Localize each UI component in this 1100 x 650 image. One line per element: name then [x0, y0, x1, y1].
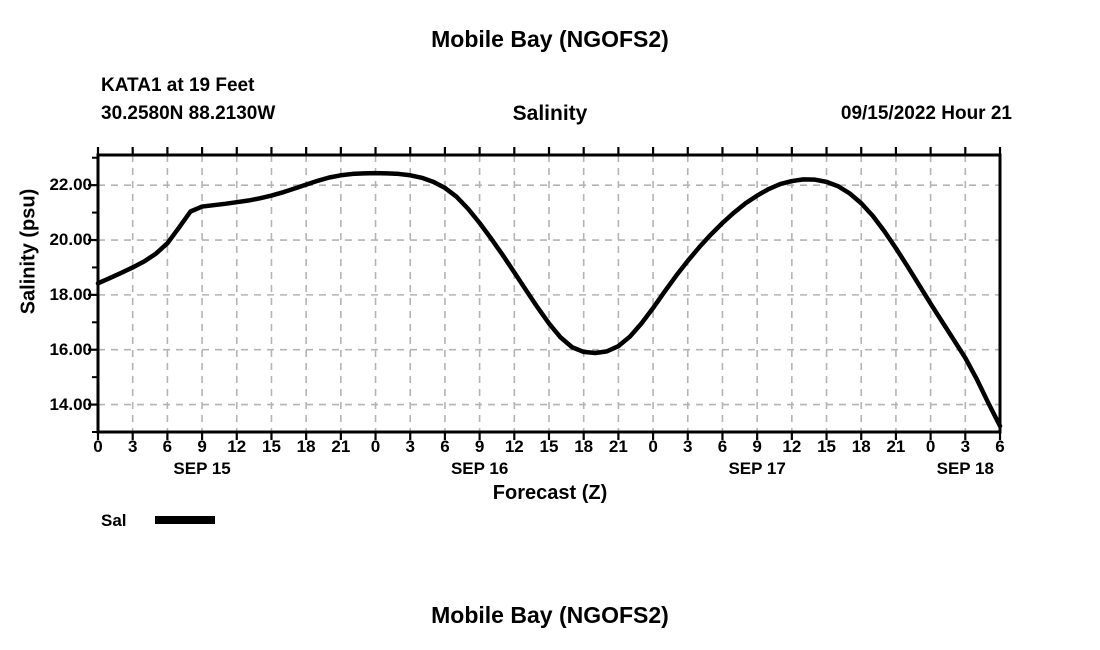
- chart-canvas: Mobile Bay (NGOFS2) KATA1 at 19 Feet 30.…: [0, 0, 1100, 650]
- axis-frame: [88, 147, 1000, 440]
- footer-title: Mobile Bay (NGOFS2): [0, 602, 1100, 629]
- grid-lines: [98, 155, 1000, 432]
- legend-line-swatch: [155, 516, 215, 524]
- legend-label: Sal: [101, 511, 127, 531]
- plot-area: [0, 0, 1100, 650]
